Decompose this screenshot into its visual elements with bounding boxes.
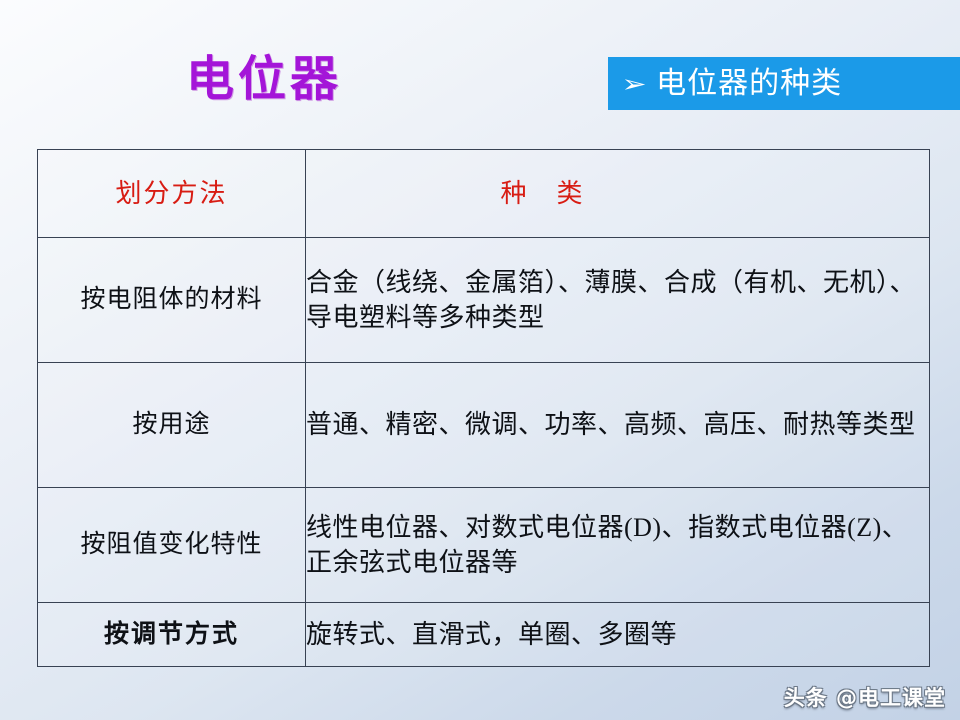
table-header-cell-method: 划分方法 bbox=[38, 150, 306, 238]
cell-kind: 合金（线绕、金属箔）、薄膜、合成（有机、无机）、导电塑料等多种类型 bbox=[306, 238, 930, 363]
method-label: 按电阻体的材料 bbox=[80, 286, 262, 313]
arrow-right-icon: ➢ bbox=[621, 72, 646, 96]
cell-method: 按用途 bbox=[38, 363, 306, 488]
potentiometer-classification-table: 划分方法 种 类 按电阻体的材料 合金（线绕、金属箔）、薄膜、合成（有机、无机）… bbox=[37, 149, 930, 666]
kind-label: 线性电位器、对数式电位器(D)、指数式电位器(Z)、正余弦式电位器等 bbox=[306, 510, 929, 580]
cell-method: 按调节方式 bbox=[38, 603, 306, 667]
method-label: 按调节方式 bbox=[104, 621, 239, 648]
table-header-row: 划分方法 种 类 bbox=[38, 150, 930, 238]
table-row: 按用途 普通、精密、微调、功率、高频、高压、耐热等类型 bbox=[38, 363, 930, 488]
cell-method: 按阻值变化特性 bbox=[38, 488, 306, 603]
section-banner-label: 电位器的种类 bbox=[656, 69, 842, 99]
cell-method: 按电阻体的材料 bbox=[38, 238, 306, 363]
table-row: 按电阻体的材料 合金（线绕、金属箔）、薄膜、合成（有机、无机）、导电塑料等多种类… bbox=[38, 238, 930, 363]
table-row: 按调节方式 旋转式、直滑式，单圈、多圈等 bbox=[38, 603, 930, 667]
column-header-method: 划分方法 bbox=[115, 179, 227, 208]
watermark: 头条 @电工课堂 bbox=[784, 682, 946, 712]
table-header-cell-kind: 种 类 bbox=[306, 150, 930, 238]
page-title: 电位器 bbox=[186, 56, 342, 104]
kind-label: 合金（线绕、金属箔）、薄膜、合成（有机、无机）、导电塑料等多种类型 bbox=[306, 265, 929, 335]
table: 划分方法 种 类 按电阻体的材料 合金（线绕、金属箔）、薄膜、合成（有机、无机）… bbox=[37, 149, 930, 667]
table-row: 按阻值变化特性 线性电位器、对数式电位器(D)、指数式电位器(Z)、正余弦式电位… bbox=[38, 488, 930, 603]
cell-kind: 线性电位器、对数式电位器(D)、指数式电位器(Z)、正余弦式电位器等 bbox=[306, 488, 930, 603]
method-label: 按阻值变化特性 bbox=[80, 531, 262, 558]
cell-kind: 旋转式、直滑式，单圈、多圈等 bbox=[306, 603, 930, 667]
kind-label: 普通、精密、微调、功率、高频、高压、耐热等类型 bbox=[306, 407, 929, 442]
section-banner: ➢ 电位器的种类 bbox=[608, 57, 960, 110]
method-label: 按用途 bbox=[132, 411, 210, 438]
cell-kind: 普通、精密、微调、功率、高频、高压、耐热等类型 bbox=[306, 363, 930, 488]
column-header-kind: 种 类 bbox=[306, 178, 929, 209]
kind-label: 旋转式、直滑式，单圈、多圈等 bbox=[306, 617, 929, 652]
